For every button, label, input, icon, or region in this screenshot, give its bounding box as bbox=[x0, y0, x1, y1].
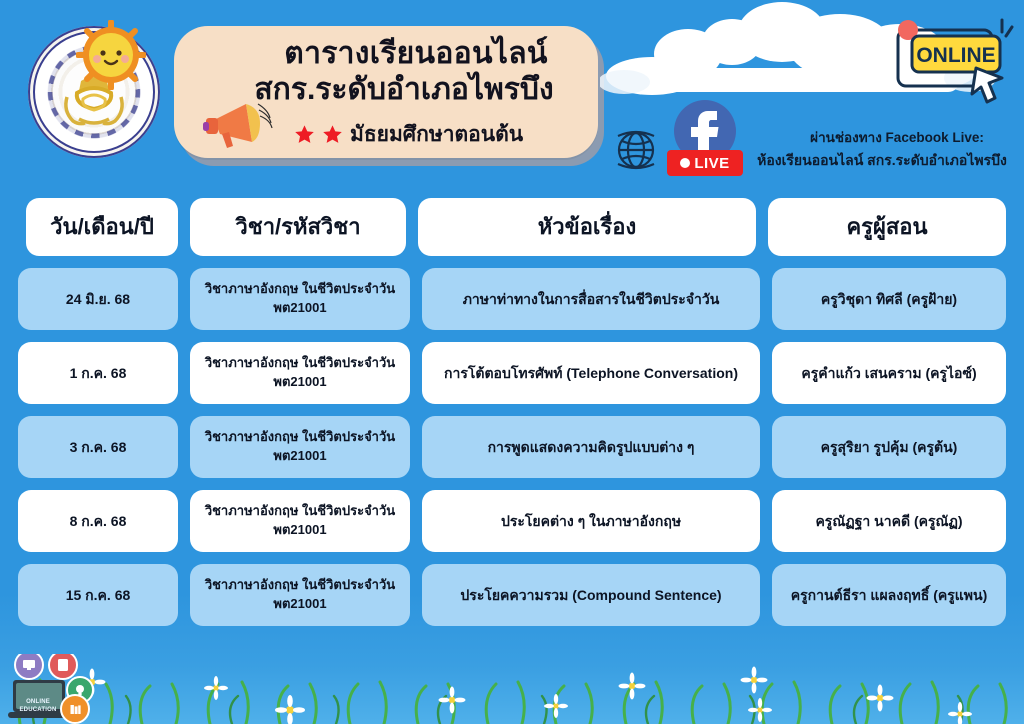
online-badge-text: ONLINE bbox=[916, 44, 995, 67]
table-row: 3 ก.ค. 68 วิชาภาษาอังกฤษ ในชีวิตประจำวัน… bbox=[0, 416, 1024, 478]
cell-date: 1 ก.ค. 68 bbox=[18, 342, 178, 404]
cell-subject-line-1: วิชาภาษาอังกฤษ ในชีวิตประจำวัน bbox=[205, 354, 395, 373]
broadcast-note-line-1: ผ่านช่องทาง Facebook Live: bbox=[772, 126, 1022, 148]
monitor-icon bbox=[22, 658, 36, 672]
globe-icon bbox=[612, 126, 660, 174]
cell-teacher: ครูวิชุดา ทิศลี (ครูฝ้าย) bbox=[772, 268, 1006, 330]
daisy-icon bbox=[748, 698, 772, 722]
poster-canvas: ตารางเรียนออนไลน์ สกร.ระดับอำเภอไพรบึง ม… bbox=[0, 0, 1024, 724]
column-header-topic: หัวข้อเรื่อง bbox=[418, 198, 756, 256]
table-header-row: วัน/เดือน/ปี วิชา/รหัสวิชา หัวข้อเรื่อง … bbox=[0, 198, 1024, 256]
cell-teacher: ครูณัฏฐา นาคดี (ครูณัฏ) bbox=[772, 490, 1006, 552]
cell-subject: วิชาภาษาอังกฤษ ในชีวิตประจำวันพต21001 bbox=[190, 416, 410, 478]
cell-subject: วิชาภาษาอังกฤษ ในชีวิตประจำวันพต21001 bbox=[190, 268, 410, 330]
cell-subject-line-2: พต21001 bbox=[205, 373, 395, 392]
star-icon bbox=[322, 124, 343, 145]
online-badge-icon: ONLINE bbox=[890, 14, 1016, 110]
cell-subject: วิชาภาษาอังกฤษ ในชีวิตประจำวันพต21001 bbox=[190, 564, 410, 626]
title-line-3-text: มัธยมศึกษาตอนต้น bbox=[350, 118, 523, 151]
cell-topic: การพูดแสดงความคิดรูปแบบต่าง ๆ bbox=[422, 416, 760, 478]
title-line-2: สกร.ระดับอำเภอไพรบึง bbox=[220, 74, 588, 106]
live-dot-icon bbox=[680, 158, 690, 168]
cell-topic: ประโยคต่าง ๆ ในภาษาอังกฤษ bbox=[422, 490, 760, 552]
star-icon bbox=[294, 124, 315, 145]
cell-teacher: ครูคำแก้ว เสนคราม (ครูไอซ์) bbox=[772, 342, 1006, 404]
books-icon bbox=[69, 703, 82, 716]
poster-header: ตารางเรียนออนไลน์ สกร.ระดับอำเภอไพรบึง ม… bbox=[0, 0, 1024, 190]
cell-subject-line-2: พต21001 bbox=[205, 595, 395, 614]
schedule-table: วัน/เดือน/ปี วิชา/รหัสวิชา หัวข้อเรื่อง … bbox=[0, 198, 1024, 638]
daisy-icon bbox=[544, 694, 568, 718]
title-line-3-wrap: มัธยมศึกษาตอนต้น bbox=[294, 118, 586, 151]
cell-subject-line-1: วิชาภาษาอังกฤษ ในชีวิตประจำวัน bbox=[205, 428, 395, 447]
cell-subject-line-2: พต21001 bbox=[205, 299, 395, 318]
cell-subject-line-1: วิชาภาษาอังกฤษ ในชีวิตประจำวัน bbox=[205, 502, 395, 521]
cell-date: 8 ก.ค. 68 bbox=[18, 490, 178, 552]
cell-subject: วิชาภาษาอังกฤษ ในชีวิตประจำวันพต21001 bbox=[190, 490, 410, 552]
table-row: 8 ก.ค. 68 วิชาภาษาอังกฤษ ในชีวิตประจำวัน… bbox=[0, 490, 1024, 552]
cell-teacher: ครูสุริยา รูปคุ้ม (ครูต้น) bbox=[772, 416, 1006, 478]
table-row: 15 ก.ค. 68 วิชาภาษาอังกฤษ ในชีวิตประจำวั… bbox=[0, 564, 1024, 626]
laptop-screen-label: ONLINE EDUCATION bbox=[14, 699, 62, 714]
live-badge: LIVE bbox=[667, 150, 743, 176]
cell-date: 15 ก.ค. 68 bbox=[18, 564, 178, 626]
grass-illustration-icon bbox=[0, 654, 1024, 724]
cell-teacher: ครูกานต์ธีรา แผลงฤทธิ์ (ครูแพน) bbox=[772, 564, 1006, 626]
cell-subject: วิชาภาษาอังกฤษ ในชีวิตประจำวันพต21001 bbox=[190, 342, 410, 404]
daisy-icon bbox=[439, 687, 466, 714]
daisy-icon bbox=[741, 667, 768, 694]
daisy-icon bbox=[204, 676, 228, 700]
books-bubble-icon bbox=[60, 694, 90, 724]
cell-subject-line-1: วิชาภาษาอังกฤษ ในชีวิตประจำวัน bbox=[205, 576, 395, 595]
cell-date: 24 มิ.ย. 68 bbox=[18, 268, 178, 330]
cell-subject-line-2: พต21001 bbox=[205, 521, 395, 540]
column-header-date: วัน/เดือน/ปี bbox=[26, 198, 178, 256]
title-card: ตารางเรียนออนไลน์ สกร.ระดับอำเภอไพรบึง ม… bbox=[174, 26, 598, 158]
column-header-subject: วิชา/รหัสวิชา bbox=[190, 198, 406, 256]
cell-subject-line-1: วิชาภาษาอังกฤษ ในชีวิตประจำวัน bbox=[205, 280, 395, 299]
daisy-icon bbox=[619, 673, 646, 700]
broadcast-note-line-2: ห้องเรียนออนไลน์ สกร.ระดับอำเภอไพรบึง bbox=[740, 150, 1024, 172]
sun-icon bbox=[76, 20, 146, 90]
cell-date: 3 ก.ค. 68 bbox=[18, 416, 178, 478]
daisy-icon bbox=[867, 685, 894, 712]
title-line-1: ตารางเรียนออนไลน์ bbox=[244, 38, 588, 70]
laptop-label-line-1: ONLINE bbox=[26, 699, 50, 705]
column-header-teacher: ครูผู้สอน bbox=[768, 198, 1006, 256]
book-icon bbox=[57, 658, 69, 672]
cell-subject-line-2: พต21001 bbox=[205, 447, 395, 466]
grass-footer: ONLINE EDUCATION bbox=[0, 654, 1024, 724]
cell-topic: ภาษาท่าทางในการสื่อสารในชีวิตประจำวัน bbox=[422, 268, 760, 330]
laptop-label-line-2: EDUCATION bbox=[19, 707, 56, 713]
cell-topic: การโต้ตอบโทรศัพท์ (Telephone Conversatio… bbox=[422, 342, 760, 404]
table-row: 24 มิ.ย. 68 วิชาภาษาอังกฤษ ในชีวิตประจำว… bbox=[0, 268, 1024, 330]
table-row: 1 ก.ค. 68 วิชาภาษาอังกฤษ ในชีวิตประจำวัน… bbox=[0, 342, 1024, 404]
live-badge-text: LIVE bbox=[694, 155, 729, 172]
cell-topic: ประโยคความรวม (Compound Sentence) bbox=[422, 564, 760, 626]
